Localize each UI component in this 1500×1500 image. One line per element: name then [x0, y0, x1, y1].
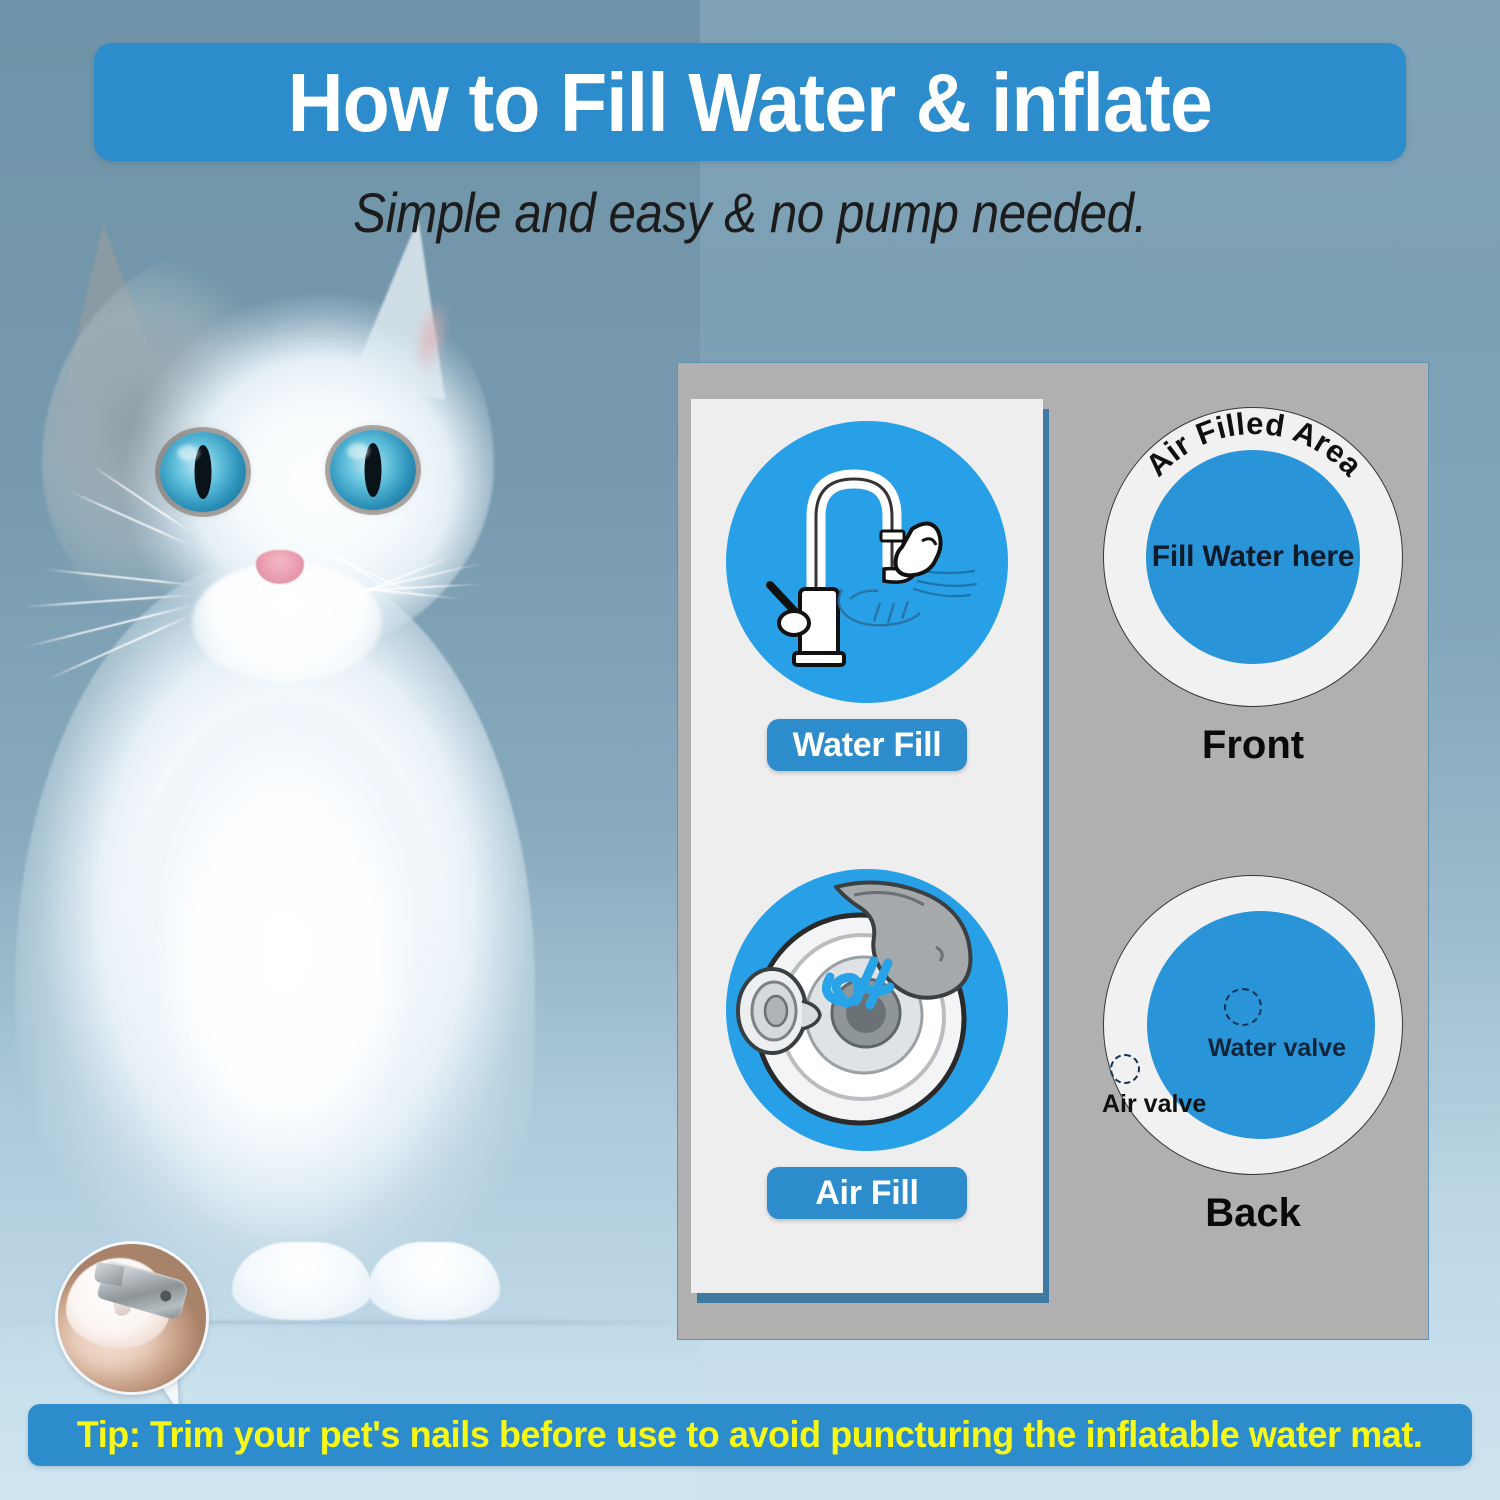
- faucet-icon: [726, 421, 1008, 703]
- back-side-label: Back: [1098, 1191, 1408, 1236]
- water-valve-label: Water valve: [1208, 1034, 1346, 1063]
- instruction-panel: Water Fill: [677, 362, 1429, 1340]
- page-title: How to Fill Water & inflate: [288, 61, 1212, 144]
- air-valve-marker: [1110, 1054, 1140, 1084]
- step-water-fill: Water Fill: [691, 421, 1043, 771]
- cat-head: [42, 232, 494, 662]
- steps-card: Water Fill: [691, 399, 1043, 1293]
- diagram-back: Water valve Air valve Back: [1098, 875, 1408, 1236]
- front-side-label: Front: [1098, 723, 1408, 768]
- step-label-air-fill: Air Fill: [767, 1167, 967, 1219]
- front-ring: Air Filled Area Fill Water here: [1103, 407, 1403, 707]
- cat-paw-nail-clipper-icon: [58, 1244, 206, 1392]
- nail-trim-callout: [58, 1244, 206, 1392]
- cat-paw-left: [232, 1242, 372, 1320]
- cat-whiskers: [42, 232, 494, 662]
- diagram-front: Air Filled Area Fill Water here Front: [1098, 407, 1408, 768]
- step-label-water-fill: Water Fill: [767, 719, 967, 771]
- page-subtitle: Simple and easy & no pump needed.: [90, 180, 1410, 245]
- cat-chest: [120, 700, 450, 1260]
- clipper-pivot: [159, 1289, 173, 1303]
- tip-text: Tip: Trim your pet's nails before use to…: [77, 1414, 1423, 1456]
- title-banner: How to Fill Water & inflate: [94, 43, 1406, 161]
- back-ring: Water valve Air valve: [1103, 875, 1403, 1175]
- fill-water-here-label: Fill Water here: [1152, 540, 1355, 574]
- infographic-canvas: How to Fill Water & inflate Simple and e…: [0, 0, 1500, 1500]
- air-valve-label: Air valve: [1102, 1090, 1206, 1119]
- cat-paw-right: [368, 1242, 500, 1320]
- front-inner-area: Fill Water here: [1146, 450, 1360, 664]
- tip-banner: Tip: Trim your pet's nails before use to…: [28, 1404, 1472, 1466]
- step-air-fill: Air Fill: [691, 869, 1043, 1219]
- valve-mouth-icon: [726, 869, 1008, 1151]
- water-valve-marker: [1224, 988, 1262, 1026]
